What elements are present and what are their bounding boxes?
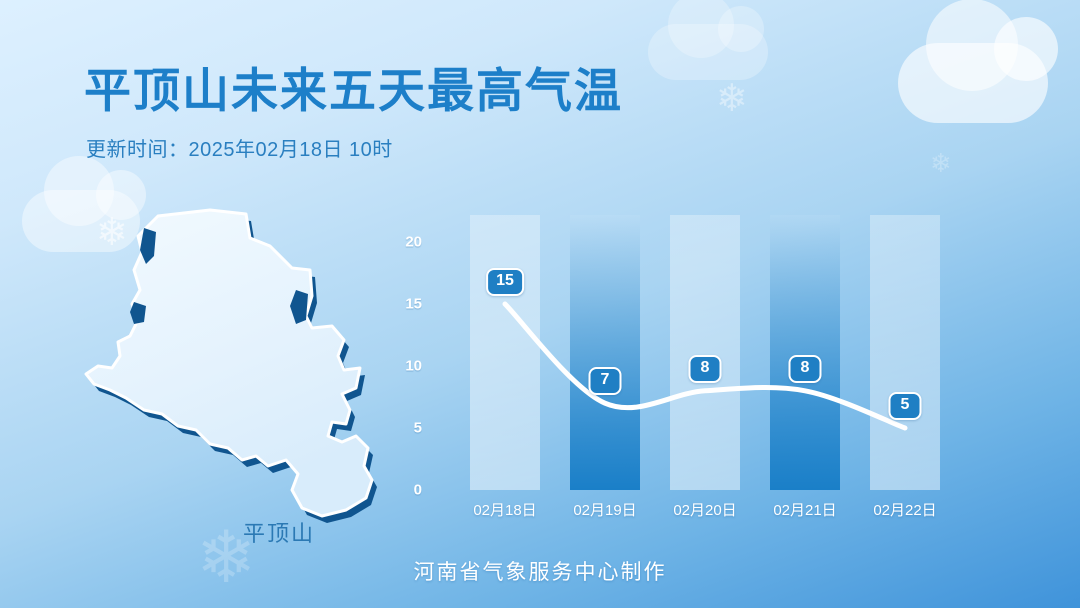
header: 平顶山未来五天最高气温 更新时间：2025年02月18日 10时 xyxy=(84,52,623,162)
map-pingdingshan: 平顶山 xyxy=(60,198,410,538)
chart-x-tick: 02月18日 xyxy=(450,499,560,520)
chart-value-badge: 7 xyxy=(589,367,622,395)
chart-x-tick: 02月22日 xyxy=(850,499,960,520)
chart-x-tick: 02月19日 xyxy=(550,499,660,520)
snowflake-icon: ❄ xyxy=(716,80,748,118)
weather-infographic: ❄ ❄ ❄ ❄ 平顶山未来五天最高气温 更新时间：2025年02月18日 10时 xyxy=(0,0,1080,608)
map-region xyxy=(86,210,372,516)
chart-x-tick: 02月21日 xyxy=(750,499,860,520)
chart-x-tick: 02月20日 xyxy=(650,499,760,520)
update-time-label: 更新时间：2025年02月18日 10时 xyxy=(86,133,623,162)
page-title: 平顶山未来五天最高气温 xyxy=(84,52,623,121)
chart-value-badge: 8 xyxy=(789,355,822,383)
cloud-icon xyxy=(648,24,768,80)
map-region-label: 平顶山 xyxy=(243,516,315,548)
chart-value-badge: 5 xyxy=(889,392,922,420)
chart-value-badge: 8 xyxy=(689,355,722,383)
chart-value-badge: 15 xyxy=(486,268,524,296)
temperature-chart: 05101520 157885 02月18日02月19日02月20日02月21日… xyxy=(410,190,1030,520)
map-svg xyxy=(60,198,410,538)
snowflake-icon: ❄ xyxy=(930,150,952,176)
cloud-icon xyxy=(898,43,1048,123)
chart-line-svg xyxy=(410,190,1030,520)
footer-credit: 河南省气象服务中心制作 xyxy=(0,556,1080,586)
